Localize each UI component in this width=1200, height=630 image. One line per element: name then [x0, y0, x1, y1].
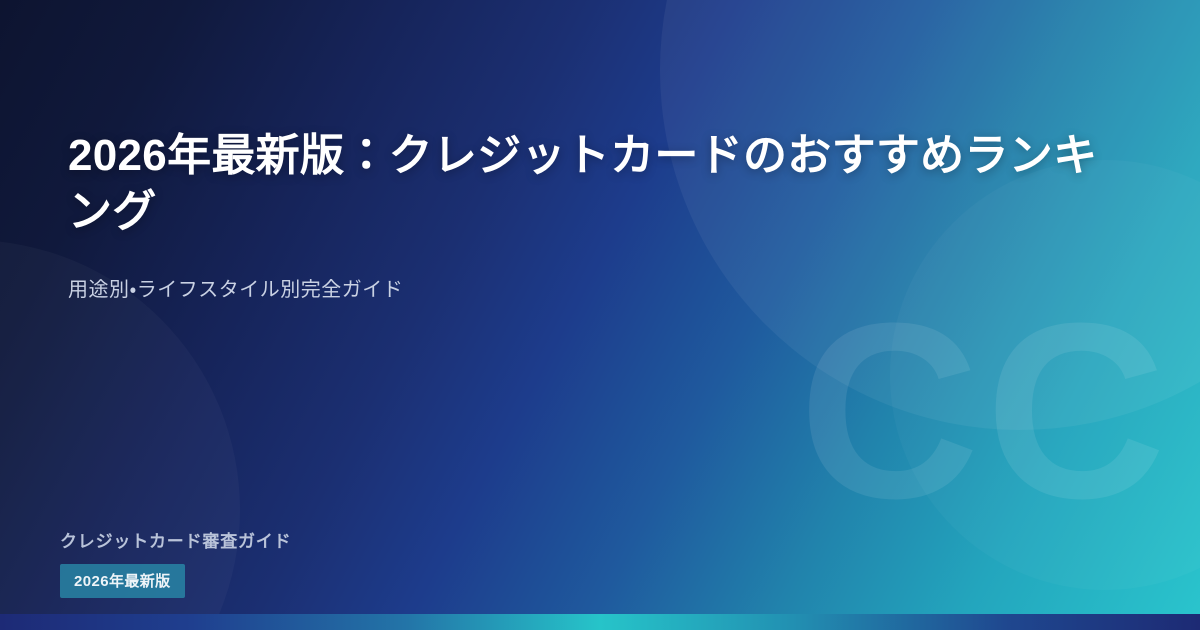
og-image-card: CC 2026年最新版：クレジットカードのおすすめランキング 用途別・ライフスタ… [0, 0, 1200, 630]
status-badge: 2026年最新版 [60, 564, 185, 598]
footer-block: クレジットカード審査ガイド 2026年最新版 [60, 532, 291, 598]
page-title: 2026年最新版：クレジットカードのおすすめランキング [68, 128, 1130, 241]
bottom-accent-bar [0, 614, 1200, 630]
page-subtitle: 用途別・ライフスタイル別完全ガイド [68, 275, 1130, 305]
site-brand-name: クレジットカード審査ガイド [60, 532, 291, 552]
cc-watermark: CC [799, 286, 1172, 536]
headline-block: 2026年最新版：クレジットカードのおすすめランキング 用途別・ライフスタイル別… [68, 128, 1130, 305]
